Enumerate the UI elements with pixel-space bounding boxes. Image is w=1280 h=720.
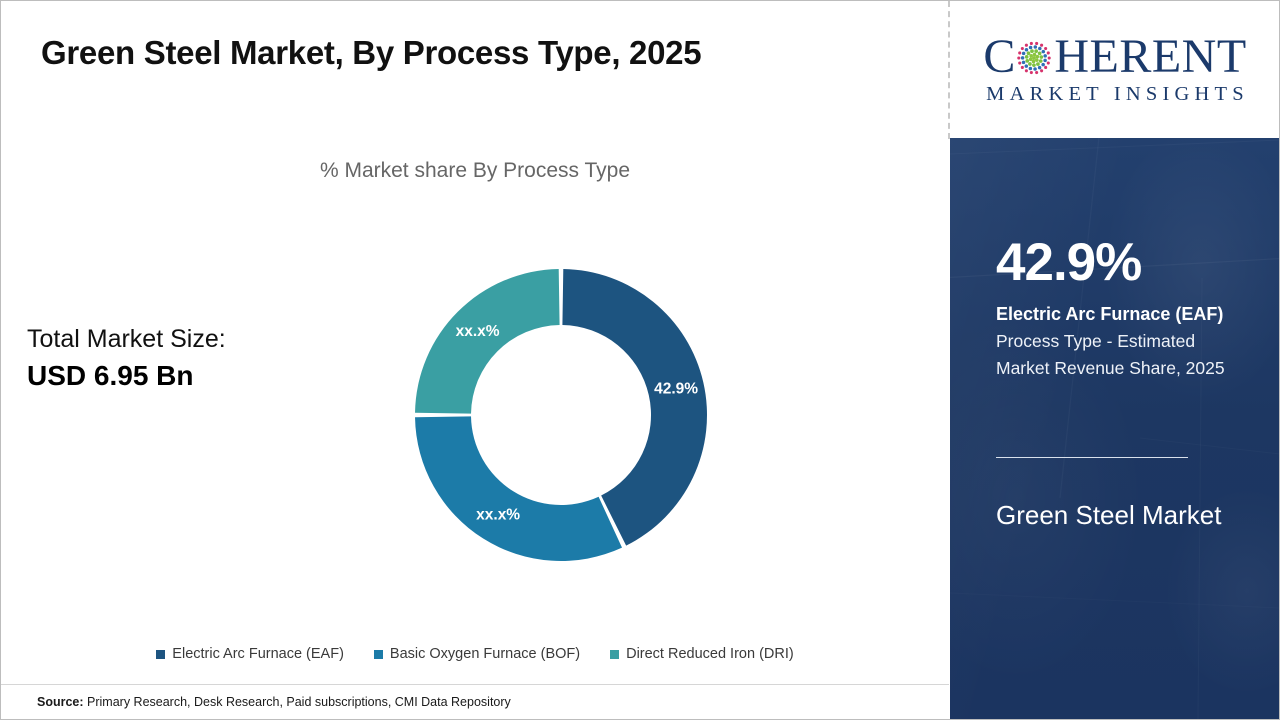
legend-item[interactable]: Electric Arc Furnace (EAF) (156, 646, 344, 662)
stat-divider-rule (996, 457, 1188, 458)
infographic-canvas: Green Steel Market, By Process Type, 202… (0, 0, 1280, 720)
legend-item[interactable]: Direct Reduced Iron (DRI) (610, 646, 794, 662)
legend-label: Electric Arc Furnace (EAF) (172, 646, 344, 662)
donut-slice (415, 269, 560, 414)
total-market-size-block: Total Market Size: USD 6.95 Bn (27, 323, 327, 395)
brand-logo: C HERENT MARKET INSIGHTS (950, 1, 1280, 138)
globe-dots-icon (1015, 39, 1053, 77)
donut-slice-label: 42.9% (654, 380, 698, 397)
chart-subtitle: % Market share By Process Type (1, 159, 949, 183)
legend-label: Basic Oxygen Furnace (BOF) (390, 646, 580, 662)
page-title: Green Steel Market, By Process Type, 202… (41, 33, 901, 73)
stat-content: 42.9% Electric Arc Furnace (EAF) Process… (996, 138, 1246, 719)
source-bar: Source: Primary Research, Desk Research,… (1, 684, 949, 719)
donut-chart: 42.9%xx.x%xx.x% (381, 235, 741, 595)
brand-logo-tagline: MARKET INSIGHTS (981, 83, 1249, 106)
legend-swatch-icon (374, 650, 383, 659)
source-text: Source: Primary Research, Desk Research,… (37, 695, 511, 709)
legend-label: Direct Reduced Iron (DRI) (626, 646, 794, 662)
total-market-size-value: USD 6.95 Bn (27, 357, 327, 395)
brand-logo-wordmark: C HERENT (983, 34, 1246, 80)
source-detail: Primary Research, Desk Research, Paid su… (84, 695, 511, 709)
donut-slice-label: xx.x% (456, 323, 500, 340)
donut-slice-label: xx.x% (476, 506, 520, 523)
legend-swatch-icon (610, 650, 619, 659)
legend-swatch-icon (156, 650, 165, 659)
chart-legend: Electric Arc Furnace (EAF)Basic Oxygen F… (1, 646, 949, 662)
source-prefix: Source: (37, 695, 84, 709)
stat-percent-value: 42.9% (996, 236, 1141, 289)
brand-logo-letters-herent: HERENT (1054, 33, 1246, 81)
brand-logo-letter-c: C (983, 33, 1015, 81)
stat-heading: Electric Arc Furnace (EAF) (996, 303, 1246, 326)
legend-item[interactable]: Basic Oxygen Furnace (BOF) (374, 646, 580, 662)
chart-pane: Green Steel Market, By Process Type, 202… (1, 1, 949, 719)
total-market-size-label: Total Market Size: (27, 323, 327, 357)
donut-slice (415, 416, 622, 561)
market-name: Green Steel Market (996, 498, 1226, 533)
sidebar: C HERENT MARKET INSIGHTS (950, 1, 1280, 719)
stat-subtext: Process Type - Estimated Market Revenue … (996, 328, 1244, 381)
stat-panel: 42.9% Electric Arc Furnace (EAF) Process… (950, 138, 1280, 719)
donut-chart-svg: 42.9%xx.x%xx.x% (381, 235, 741, 595)
